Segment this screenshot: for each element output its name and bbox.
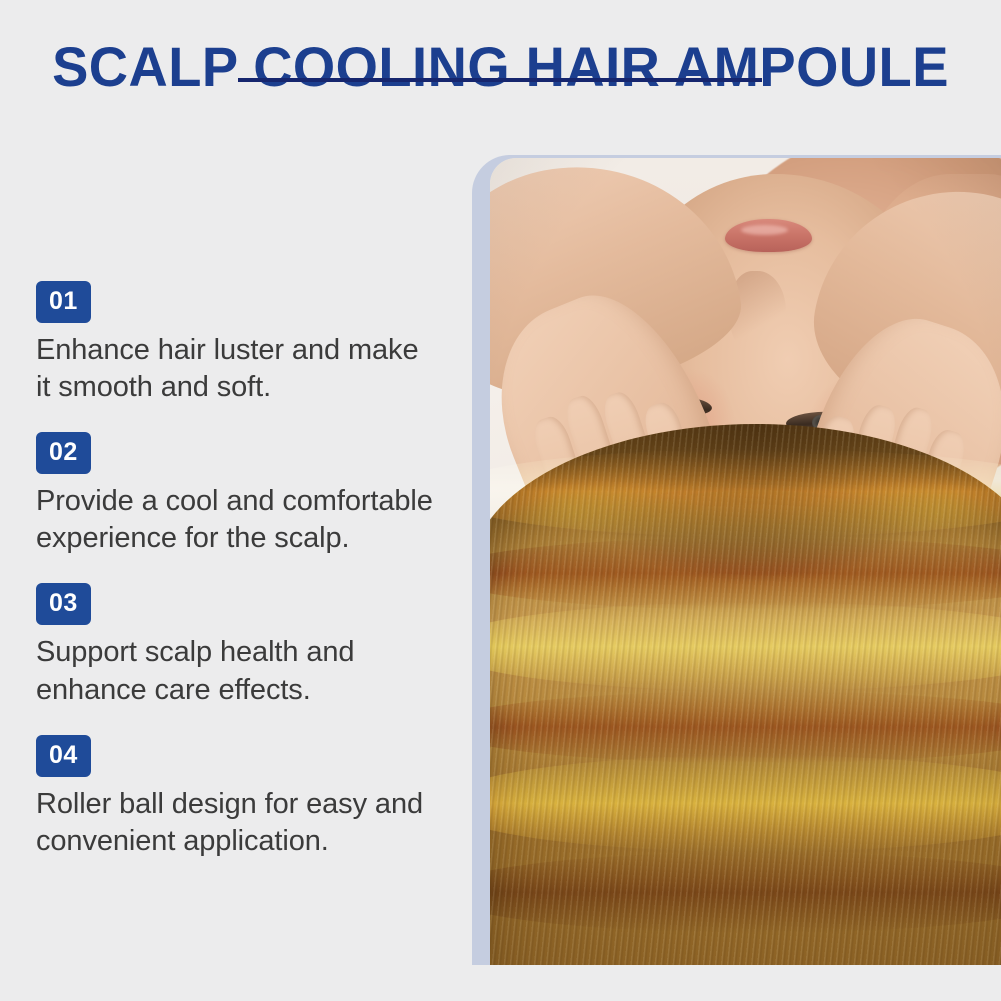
feature-description: Provide a cool and comfortable experienc… — [36, 483, 436, 557]
feature-number-badge: 03 — [36, 583, 91, 625]
feature-item: 04 Roller ball design for easy and conve… — [36, 735, 446, 860]
feature-item: 03 Support scalp health and enhance care… — [36, 583, 446, 708]
photo-panel-frame — [472, 155, 1001, 965]
model-photo — [490, 158, 1001, 965]
feature-number-badge: 01 — [36, 281, 91, 323]
page-title-block: SCALP COOLING HAIR AMPOULE — [0, 38, 1001, 97]
title-underline-divider — [238, 78, 762, 82]
feature-description: Enhance hair luster and make it smooth a… — [36, 332, 436, 406]
feature-list: 01 Enhance hair luster and make it smoot… — [36, 281, 446, 860]
feature-number-badge: 02 — [36, 432, 91, 474]
feature-item: 02 Provide a cool and comfortable experi… — [36, 432, 446, 557]
photo-vignette — [490, 158, 1001, 965]
feature-description: Support scalp health and enhance care ef… — [36, 634, 436, 708]
page-title: SCALP COOLING HAIR AMPOULE — [15, 38, 986, 97]
feature-item: 01 Enhance hair luster and make it smoot… — [36, 281, 446, 406]
feature-number-badge: 04 — [36, 735, 91, 777]
product-poster: SCALP COOLING HAIR AMPOULE 01 Enhance ha… — [0, 0, 1001, 1001]
feature-description: Roller ball design for easy and convenie… — [36, 786, 436, 860]
